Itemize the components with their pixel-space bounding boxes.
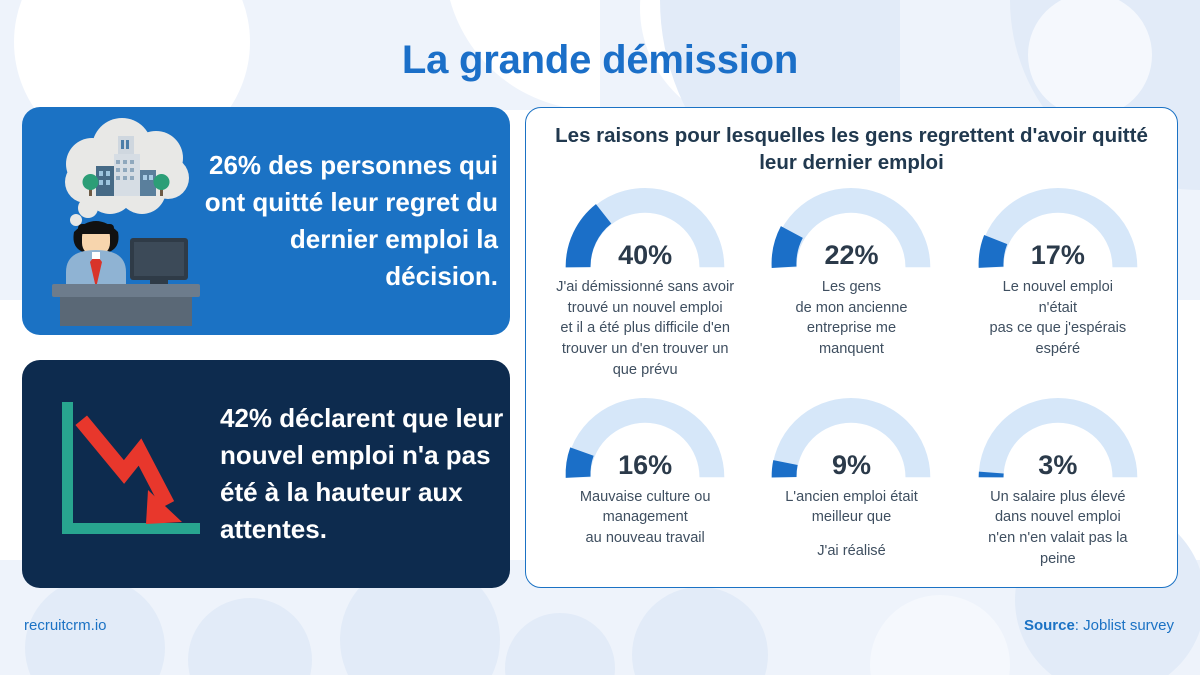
gauge-item-0: 40% J'ai démissionné sans avoir trouvé u… xyxy=(542,187,748,381)
gauge-value-1: 22% xyxy=(765,240,937,271)
gauge-chart-0: 40% xyxy=(559,187,731,273)
stat-card-blue: 26% des personnes qui ont quitté leur re… xyxy=(22,107,510,335)
gauge-caption-0: J'ai démissionné sans avoir trouvé un no… xyxy=(556,277,734,381)
gauge-value-5: 3% xyxy=(972,450,1144,481)
gauge-row-bottom: 16% Mauvaise culture ou management au no… xyxy=(542,397,1161,570)
gauge-caption-extra-4: J'ai réalisé xyxy=(817,541,886,562)
stat-card-navy: 42% déclarent que leur nouvel emploi n'a… xyxy=(22,360,510,588)
gauge-caption-5: Un salaire plus élevé dans nouvel emploi… xyxy=(988,487,1127,570)
reasons-panel: Les raisons pour lesquelles les gens reg… xyxy=(525,107,1178,588)
gauge-row-top: 40% J'ai démissionné sans avoir trouvé u… xyxy=(542,187,1161,381)
gauge-caption-3: Mauvaise culture ou management au nouvea… xyxy=(580,487,711,549)
footer-source-label: Source xyxy=(1024,617,1075,634)
footer-source: Source: Joblist survey xyxy=(1024,617,1174,634)
gauge-chart-2: 17% xyxy=(972,187,1144,273)
gauge-value-2: 17% xyxy=(972,240,1144,271)
declining-chart-arrow-icon xyxy=(22,394,212,554)
gauge-value-4: 9% xyxy=(765,450,937,481)
gauge-caption-2: Le nouvel emploi n'était pas ce que j'es… xyxy=(989,277,1126,360)
stat-card-navy-text: 42% déclarent que leur nouvel emploi n'a… xyxy=(220,400,510,548)
reasons-panel-title: Les raisons pour lesquelles les gens reg… xyxy=(542,122,1161,177)
gauge-chart-4: 9% xyxy=(765,397,937,483)
gauge-chart-3: 16% xyxy=(559,397,731,483)
gauge-caption-4: L'ancien emploi était meilleur que xyxy=(785,487,918,528)
gauge-value-0: 40% xyxy=(559,240,731,271)
stat-card-blue-text: 26% des personnes qui ont quitté leur re… xyxy=(180,147,510,295)
gauge-item-1: 22% Les gens de mon ancienne entreprise … xyxy=(748,187,954,381)
gauge-item-3: 16% Mauvaise culture ou management au no… xyxy=(542,397,748,570)
gauge-chart-1: 22% xyxy=(765,187,937,273)
gauge-value-3: 16% xyxy=(559,450,731,481)
gauge-item-2: 17% Le nouvel emploi n'était pas ce que … xyxy=(955,187,1161,381)
gauge-item-5: 3% Un salaire plus élevé dans nouvel emp… xyxy=(955,397,1161,570)
gauge-item-4: 9% L'ancien emploi était meilleur que J'… xyxy=(748,397,954,570)
gauge-chart-5: 3% xyxy=(972,397,1144,483)
footer-site-link[interactable]: recruitcrm.io xyxy=(24,617,107,634)
gauge-caption-1: Les gens de mon ancienne entreprise me m… xyxy=(796,277,908,360)
footer-source-value: : Joblist survey xyxy=(1075,617,1174,634)
page-title: La grande démission xyxy=(0,38,1200,83)
